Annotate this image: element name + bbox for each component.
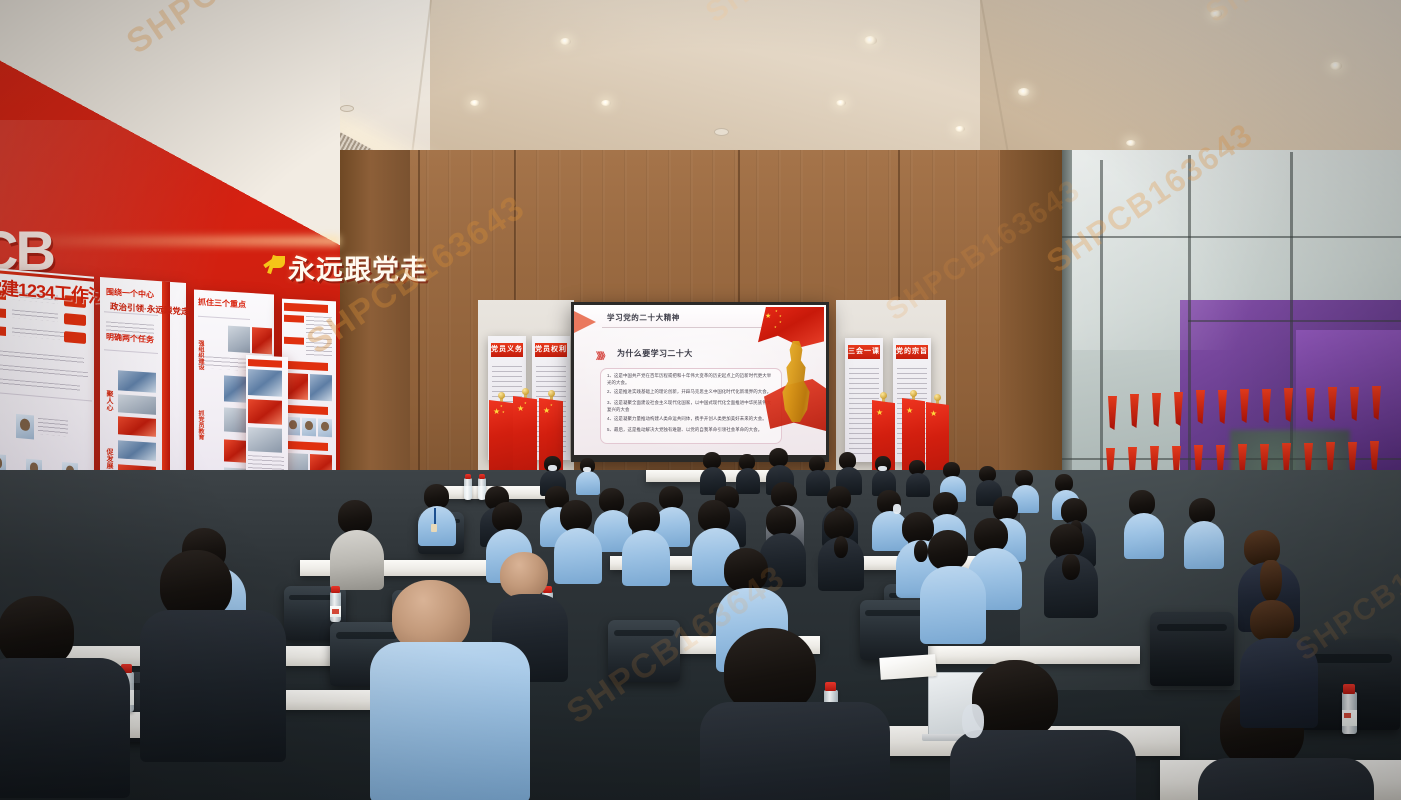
- recessed-downlight: [470, 100, 480, 106]
- conference-chair: [1150, 612, 1234, 686]
- flag-finial: [498, 392, 505, 399]
- slide-subtitle: 为什么要学习二十大: [617, 348, 693, 359]
- slide-accent-triangle: [574, 311, 596, 333]
- bottle-label: [1342, 710, 1357, 726]
- chinese-national-flag: ★ ★: [513, 396, 537, 476]
- slide-title: 学习党的二十大精神: [607, 312, 680, 323]
- conference-chair: [608, 620, 680, 682]
- bottle-cap: [465, 474, 471, 479]
- recessed-downlight: [601, 100, 611, 106]
- recessed-downlight: [1330, 62, 1342, 70]
- panel-duties-title: 党员义务: [491, 343, 523, 357]
- panel-rights-title: 党员权利: [535, 343, 567, 357]
- wood-column-left: [338, 150, 410, 518]
- water-bottle: [464, 478, 472, 500]
- recessed-downlight: [1018, 88, 1030, 96]
- recessed-downlight: [560, 38, 571, 45]
- recessed-downlight: [1210, 10, 1222, 18]
- wall-slogan: 永远跟党走: [288, 248, 428, 287]
- cpc-hammer-sickle-emblem: [262, 252, 288, 278]
- slide-bullet-2: 2、这是推进实践基础上的理论创新，开辟马克思主义中国化时代化新境界的大会。: [607, 389, 773, 396]
- bottle-cap: [825, 682, 836, 691]
- notebook-paper: [879, 654, 936, 680]
- slide-bullet-5: 5、最后，这是推动解决大党独有难题、以党的自我革命引领社会革命的大会。: [607, 427, 773, 434]
- board-center-vlabel2: 促发展: [104, 448, 114, 470]
- smoke-detector: [340, 105, 354, 112]
- conference-chair: [860, 600, 928, 660]
- flag-finial: [910, 390, 917, 397]
- recessed-downlight: [836, 100, 846, 106]
- smoke-detector: [714, 128, 729, 136]
- recessed-downlight: [1126, 140, 1136, 146]
- slide-bullet-3: 3、这是凝聚全面建设社会主义现代化国家，以中国式现代化全面推进中华民族伟大复兴的…: [607, 400, 773, 414]
- board-center-vlabel1: 聚人心: [104, 390, 114, 412]
- panel-purpose-title: 党的宗旨: [896, 345, 928, 359]
- flag-finial: [934, 394, 941, 401]
- wood-column-right: [1000, 150, 1062, 518]
- projection-screen: 学习党的二十大精神 ★ ★ ★ ★ ★ 》》》 为什么要学习二十大 1、这是中国…: [574, 305, 826, 455]
- flag-finial: [548, 390, 555, 397]
- flag-finial: [522, 388, 529, 395]
- bottle-label: [330, 606, 341, 617]
- flag-finial: [880, 392, 887, 399]
- meeting-room-photo: CB 永远跟党走 党建1234工作法: [0, 0, 1401, 800]
- glass-mullion: [1062, 236, 1401, 238]
- recessed-downlight: [955, 126, 965, 132]
- glass-mullion: [1188, 320, 1401, 322]
- recessed-downlight: [864, 36, 877, 45]
- slide-bullet-4: 4、这是凝聚力量推动构建人类命运共同体，携手开创人类更加美好未来的大会。: [607, 416, 773, 423]
- bottle-cap: [1343, 684, 1355, 694]
- panel-meetings-title: 三会一课: [848, 345, 880, 359]
- slide-bullet-1: 1、这是中国共产党在百年历程或把和十年伟大变革的历史起点上的迈新时代更大举光的大…: [607, 373, 773, 387]
- chinese-national-flag: ★ ★ ★: [489, 400, 513, 476]
- bottle-cap: [479, 474, 485, 479]
- slide-section-marker: 》》》: [596, 349, 608, 362]
- bottle-cap: [331, 586, 340, 593]
- board-three-vlabel1: 强组织建设: [196, 340, 205, 371]
- board-three-vlabel2: 抓党员教育: [196, 410, 205, 441]
